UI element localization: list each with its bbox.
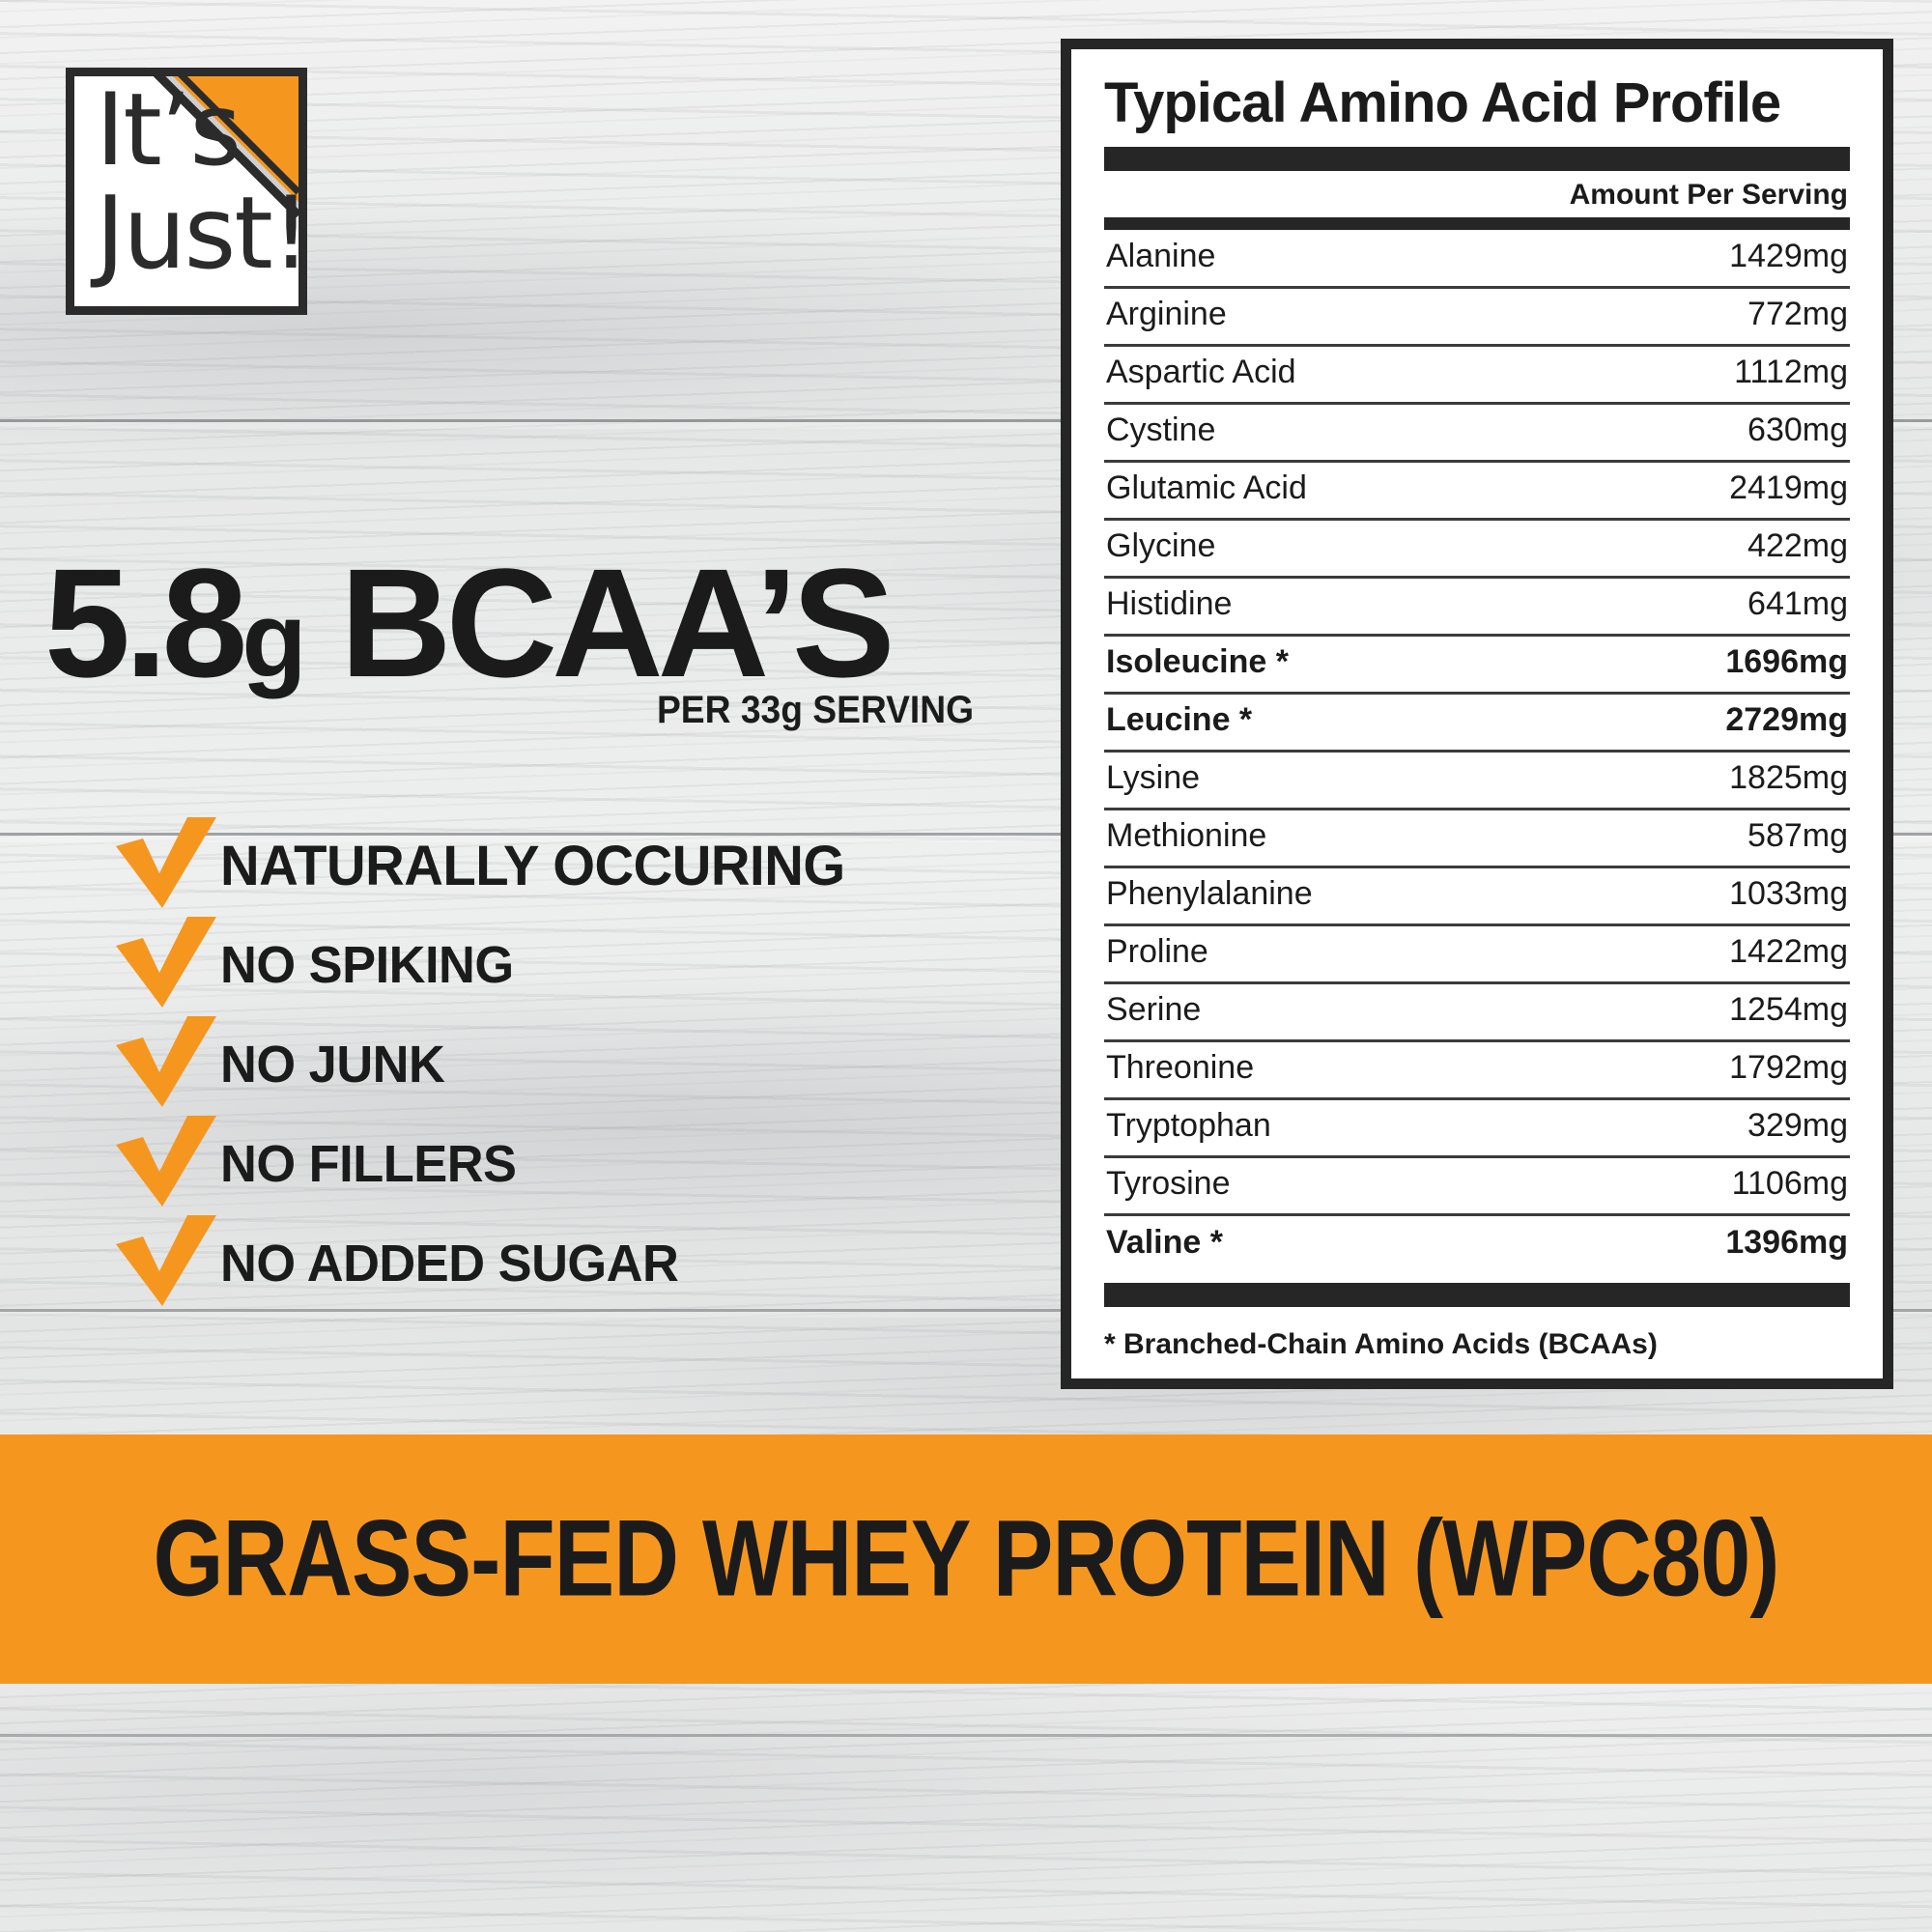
amino-acid-name: Serine — [1104, 983, 1477, 1041]
check-icon — [114, 1016, 220, 1113]
amino-acid-amount: 1825mg — [1477, 752, 1850, 810]
amino-acid-amount: 1696mg — [1477, 636, 1850, 694]
panel-rule-footer — [1104, 1283, 1850, 1307]
amino-acid-amount: 1033mg — [1477, 867, 1850, 925]
amino-acid-amount: 2419mg — [1477, 462, 1850, 520]
table-row: Arginine772mg — [1104, 288, 1850, 346]
amino-acid-name: Arginine — [1104, 288, 1477, 346]
benefits-list: NATURALLY OCCURING NO SPIKING NO JUNK NO… — [114, 816, 983, 1313]
check-icon — [114, 917, 220, 1013]
check-icon — [114, 1215, 220, 1312]
table-row: Cystine630mg — [1104, 404, 1850, 462]
amino-acid-name: Proline — [1104, 925, 1477, 983]
check-icon — [114, 1116, 220, 1212]
table-row: Glutamic Acid2419mg — [1104, 462, 1850, 520]
table-row: Threonine1792mg — [1104, 1041, 1850, 1099]
table-row: Tyrosine1106mg — [1104, 1157, 1850, 1215]
amino-acid-name: Tyrosine — [1104, 1157, 1477, 1215]
table-row: Aspartic Acid1112mg — [1104, 346, 1850, 404]
amino-acid-amount: 641mg — [1477, 578, 1850, 636]
serving-note: PER 33g SERVING — [657, 689, 974, 732]
amino-acid-name: Alanine — [1104, 230, 1477, 288]
list-item: NO FILLERS — [114, 1115, 983, 1213]
logo-line-2: Just! — [96, 185, 298, 283]
panel-rule-thick — [1104, 147, 1850, 171]
amino-acid-name: Methionine — [1104, 810, 1477, 867]
amino-acid-name: Tryptophan — [1104, 1099, 1477, 1157]
amount-per-serving-label: Amount Per Serving — [1570, 179, 1848, 212]
amino-acid-amount: 630mg — [1477, 404, 1850, 462]
table-row: Isoleucine *1696mg — [1104, 636, 1850, 694]
amino-acid-name: Aspartic Acid — [1104, 346, 1477, 404]
bcaa-amount: 5.8 — [44, 536, 241, 709]
panel-rule-thin — [1104, 217, 1850, 230]
amino-acid-amount: 1106mg — [1477, 1157, 1850, 1215]
benefit-label: NO FILLERS — [220, 1134, 517, 1194]
table-row: Proline1422mg — [1104, 925, 1850, 983]
table-row: Methionine587mg — [1104, 810, 1850, 867]
brand-logo: It’s Just! — [66, 68, 307, 315]
amino-acid-name: Histidine — [1104, 578, 1477, 636]
amino-acid-amount: 587mg — [1477, 810, 1850, 867]
table-row: Histidine641mg — [1104, 578, 1850, 636]
list-item: NATURALLY OCCURING — [114, 816, 983, 915]
table-row: Phenylalanine1033mg — [1104, 867, 1850, 925]
table-row: Alanine1429mg — [1104, 230, 1850, 288]
table-row: Lysine1825mg — [1104, 752, 1850, 810]
amino-acid-amount: 1422mg — [1477, 925, 1850, 983]
logo-clip: It’s Just! — [74, 76, 298, 306]
table-row: Valine *1396mg — [1104, 1215, 1850, 1273]
bcaa-footnote: * Branched-Chain Amino Acids (BCAAs) — [1104, 1307, 1850, 1361]
amino-acid-amount: 1396mg — [1477, 1215, 1850, 1273]
amino-acid-amount: 1112mg — [1477, 346, 1850, 404]
amino-acid-name: Glycine — [1104, 520, 1477, 578]
benefit-label: NO JUNK — [220, 1035, 444, 1094]
product-banner: GRASS-FED WHEY PROTEIN (WPC80) — [0, 1435, 1932, 1684]
amino-acid-name: Leucine * — [1104, 694, 1477, 752]
amino-acid-name: Threonine — [1104, 1041, 1477, 1099]
amino-acid-panel: Typical Amino Acid Profile Amount Per Se… — [1061, 39, 1893, 1389]
benefit-label: NO ADDED SUGAR — [220, 1234, 678, 1293]
amino-acid-table: Alanine1429mgArginine772mgAspartic Acid1… — [1104, 230, 1850, 1273]
amino-acid-amount: 1254mg — [1477, 983, 1850, 1041]
bcaa-term: BCAA’S — [303, 536, 890, 709]
logo-line-1: It’s — [96, 76, 240, 188]
table-row: Glycine422mg — [1104, 520, 1850, 578]
amino-acid-name: Glutamic Acid — [1104, 462, 1477, 520]
bcaa-unit: g — [241, 581, 302, 699]
logo-wordmark: It’s Just! — [96, 82, 298, 283]
amino-acid-name: Phenylalanine — [1104, 867, 1477, 925]
table-row: Serine1254mg — [1104, 983, 1850, 1041]
amino-acid-amount: 329mg — [1477, 1099, 1850, 1157]
amino-acid-name: Isoleucine * — [1104, 636, 1477, 694]
check-icon — [114, 817, 220, 914]
table-row: Leucine *2729mg — [1104, 694, 1850, 752]
banner-label: GRASS-FED WHEY PROTEIN (WPC80) — [154, 1497, 1779, 1621]
list-item: NO JUNK — [114, 1015, 983, 1114]
panel-title: Typical Amino Acid Profile — [1104, 74, 1850, 133]
amino-acid-name: Valine * — [1104, 1215, 1477, 1273]
page-title: 5.8g BCAA’S — [44, 546, 890, 700]
amino-acid-amount: 772mg — [1477, 288, 1850, 346]
benefit-label: NATURALLY OCCURING — [220, 834, 845, 898]
amino-acid-amount: 422mg — [1477, 520, 1850, 578]
amino-acid-name: Lysine — [1104, 752, 1477, 810]
amino-acid-amount: 2729mg — [1477, 694, 1850, 752]
table-row: Tryptophan329mg — [1104, 1099, 1850, 1157]
list-item: NO SPIKING — [114, 916, 983, 1014]
amino-acid-amount: 1792mg — [1477, 1041, 1850, 1099]
benefit-label: NO SPIKING — [220, 935, 514, 995]
amino-acid-name: Cystine — [1104, 404, 1477, 462]
amino-acid-amount: 1429mg — [1477, 230, 1850, 288]
list-item: NO ADDED SUGAR — [114, 1214, 983, 1313]
amount-header-row: Amount Per Serving — [1104, 171, 1850, 217]
